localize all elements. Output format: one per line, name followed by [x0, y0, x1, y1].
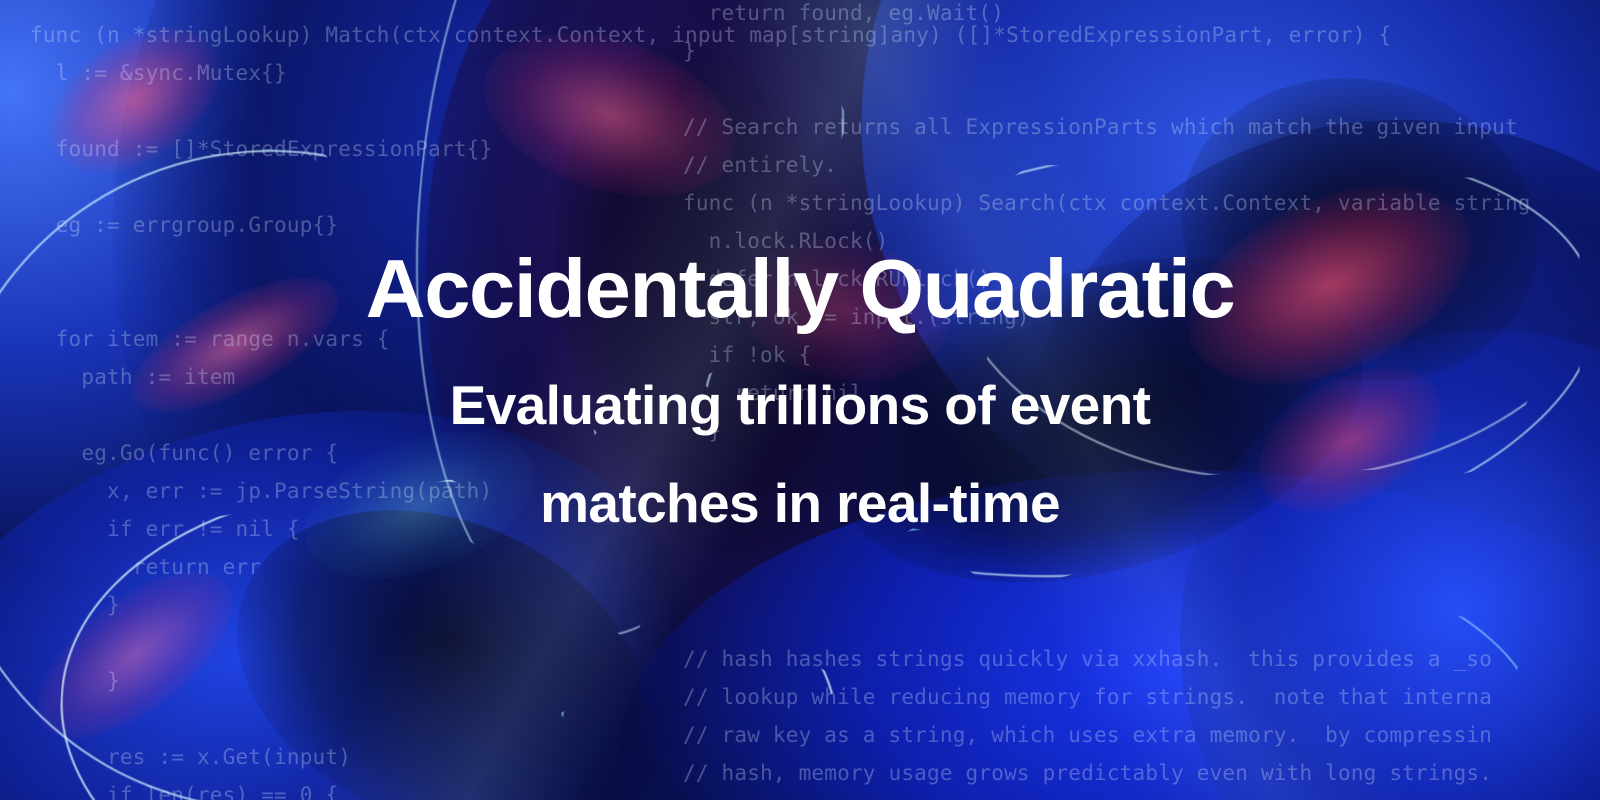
headline-group: Accidentally Quadratic Evaluating trilli… — [0, 0, 1600, 800]
page-title: Accidentally Quadratic — [366, 247, 1235, 332]
hero-subtitle-line-2: matches in real-time — [540, 455, 1060, 553]
hero-banner: func (n *stringLookup) Match(ctx context… — [0, 0, 1600, 800]
hero-subtitle-line-1: Evaluating trillions of event — [450, 357, 1151, 455]
